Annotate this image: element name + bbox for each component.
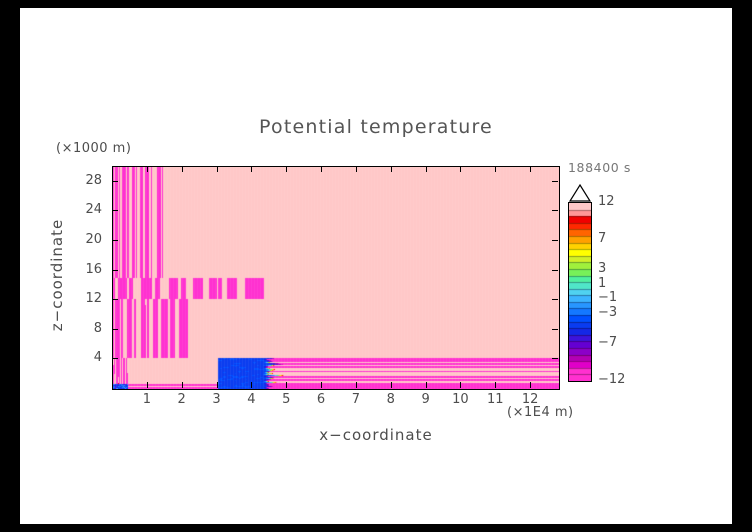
y-tick-mark: [552, 299, 558, 300]
y-tick-label: 24: [72, 202, 102, 217]
y-tick-mark: [112, 329, 118, 330]
x-tick-mark: [460, 382, 461, 388]
colorbar-tick-label: −7: [598, 335, 617, 350]
x-tick-label: 3: [204, 392, 230, 407]
colorbar-gradient: [568, 202, 592, 382]
x-tick-label: 11: [482, 392, 508, 407]
x-tick-mark: [182, 382, 183, 388]
y-tick-mark: [552, 358, 558, 359]
y-tick-mark: [112, 181, 118, 182]
x-axis-title: x−coordinate: [20, 426, 732, 444]
colorbar-tick-label: 3: [598, 261, 606, 276]
y-tick-mark: [552, 240, 558, 241]
x-tick-mark: [321, 382, 322, 388]
colorbar-tick-label: 12: [598, 194, 615, 209]
x-tick-mark: [356, 382, 357, 388]
x-tick-mark: [530, 382, 531, 388]
colorbar-tick-label: 7: [598, 231, 606, 246]
time-annotation: 188400 s: [568, 160, 631, 175]
y-tick-mark: [552, 210, 558, 211]
colorbar-tick-label: −1: [598, 290, 617, 305]
y-tick-mark: [112, 299, 118, 300]
x-tick-mark: [460, 166, 461, 172]
x-tick-label: 7: [343, 392, 369, 407]
x-tick-label: 9: [413, 392, 439, 407]
x-tick-label: 6: [308, 392, 334, 407]
colorbar-tick-label: −3: [598, 305, 617, 320]
colorbar-tick-label: 1: [598, 276, 606, 291]
x-tick-mark: [391, 166, 392, 172]
x-tick-mark: [182, 166, 183, 172]
y-tick-label: 12: [72, 291, 102, 306]
x-tick-mark: [356, 166, 357, 172]
contour-plot-area: [112, 166, 560, 390]
y-tick-mark: [112, 270, 118, 271]
colorbar-tick-label: −12: [598, 372, 625, 387]
x-tick-mark: [286, 166, 287, 172]
x-tick-label: 4: [238, 392, 264, 407]
colorbar-extend-arrow-icon: [568, 184, 592, 203]
y-tick-mark: [112, 240, 118, 241]
y-tick-label: 4: [72, 350, 102, 365]
x-tick-mark: [391, 382, 392, 388]
x-tick-label: 10: [447, 392, 473, 407]
x-tick-mark: [251, 382, 252, 388]
y-tick-label: 28: [72, 173, 102, 188]
x-tick-mark: [426, 382, 427, 388]
x-tick-mark: [217, 166, 218, 172]
x-tick-mark: [147, 166, 148, 172]
x-axis-unit-label: (×1E4 m): [507, 405, 574, 420]
y-tick-label: 8: [72, 321, 102, 336]
x-tick-label: 2: [169, 392, 195, 407]
x-tick-mark: [495, 382, 496, 388]
x-tick-mark: [147, 382, 148, 388]
y-axis-unit-label: (×1000 m): [56, 141, 131, 156]
screenshot-root: Potential temperature (×1000 m) 188400 s…: [0, 0, 752, 532]
page-title: Potential temperature: [20, 116, 732, 138]
x-tick-mark: [426, 166, 427, 172]
x-tick-mark: [251, 166, 252, 172]
figure-canvas: Potential temperature (×1000 m) 188400 s…: [20, 8, 732, 524]
x-tick-mark: [530, 166, 531, 172]
x-tick-label: 8: [378, 392, 404, 407]
y-tick-label: 20: [72, 232, 102, 247]
colorbar: 12731−1−3−7−12: [568, 180, 688, 396]
x-tick-mark: [321, 166, 322, 172]
y-tick-mark: [112, 210, 118, 211]
x-tick-mark: [286, 382, 287, 388]
x-tick-label: 1: [134, 392, 160, 407]
y-tick-mark: [552, 181, 558, 182]
y-tick-mark: [552, 270, 558, 271]
temperature-field: [113, 167, 559, 389]
y-axis-title: z−coordinate: [48, 205, 66, 345]
x-tick-mark: [495, 166, 496, 172]
y-tick-mark: [112, 358, 118, 359]
x-tick-label: 5: [273, 392, 299, 407]
y-tick-mark: [552, 329, 558, 330]
y-tick-label: 16: [72, 262, 102, 277]
x-tick-mark: [217, 382, 218, 388]
